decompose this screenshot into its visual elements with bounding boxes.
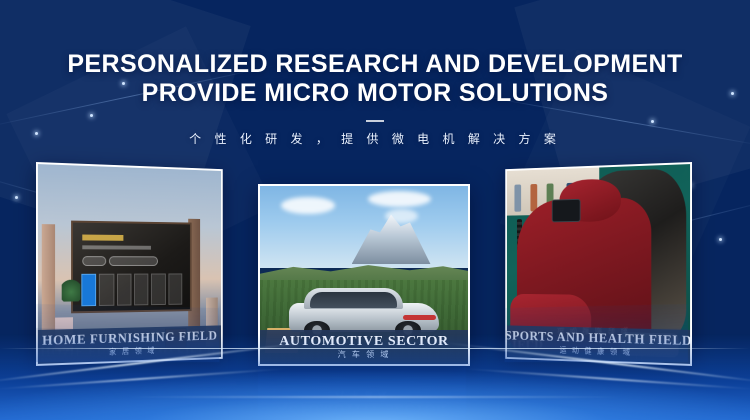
panel-caption-cn: 汽 车 领 域 <box>338 349 391 360</box>
potted-plant <box>61 278 80 302</box>
panel-caption-cn: 家 居 领 域 <box>109 345 156 357</box>
pillar-left <box>42 224 56 336</box>
display-screen <box>71 221 192 314</box>
screen-card <box>99 274 114 306</box>
screen-card <box>168 274 182 305</box>
screen-card-row <box>81 274 182 306</box>
panel-group: HOME FURNISHING FIELD 家 居 领 域 <box>0 0 750 420</box>
promo-banner: PERSONALIZED RESEARCH AND DEVELOPMENT PR… <box>0 0 750 420</box>
screen-card <box>81 274 96 306</box>
screen-title-bar <box>83 234 124 241</box>
screen-card <box>134 274 148 305</box>
panel-caption: SPORTS AND HEALTH FIELD 运 动 健 康 领 域 <box>507 325 690 364</box>
panel-automotive[interactable]: AUTOMOTIVE SECTOR 汽 车 领 域 <box>258 184 470 366</box>
screen-card <box>117 274 132 305</box>
panel-caption: AUTOMOTIVE SECTOR 汽 车 领 域 <box>260 330 468 364</box>
screen-button <box>83 256 107 266</box>
suv-windows <box>310 292 397 308</box>
chair-control-panel <box>552 199 581 222</box>
panel-caption-en: AUTOMOTIVE SECTOR <box>279 334 449 349</box>
panel-sports-health[interactable]: SPORTS AND HEALTH FIELD 运 动 健 康 领 域 <box>505 162 692 366</box>
screen-subtitle-bar <box>83 246 152 250</box>
panel-caption-cn: 运 动 健 康 领 域 <box>560 345 632 358</box>
suv-taillight <box>403 315 436 320</box>
screen-button <box>109 256 158 266</box>
panel-home-furnishing[interactable]: HOME FURNISHING FIELD 家 居 领 域 <box>36 162 223 366</box>
shelf-item <box>514 185 521 212</box>
panel-caption: HOME FURNISHING FIELD 家 居 领 域 <box>38 325 221 364</box>
screen-card <box>151 274 165 305</box>
